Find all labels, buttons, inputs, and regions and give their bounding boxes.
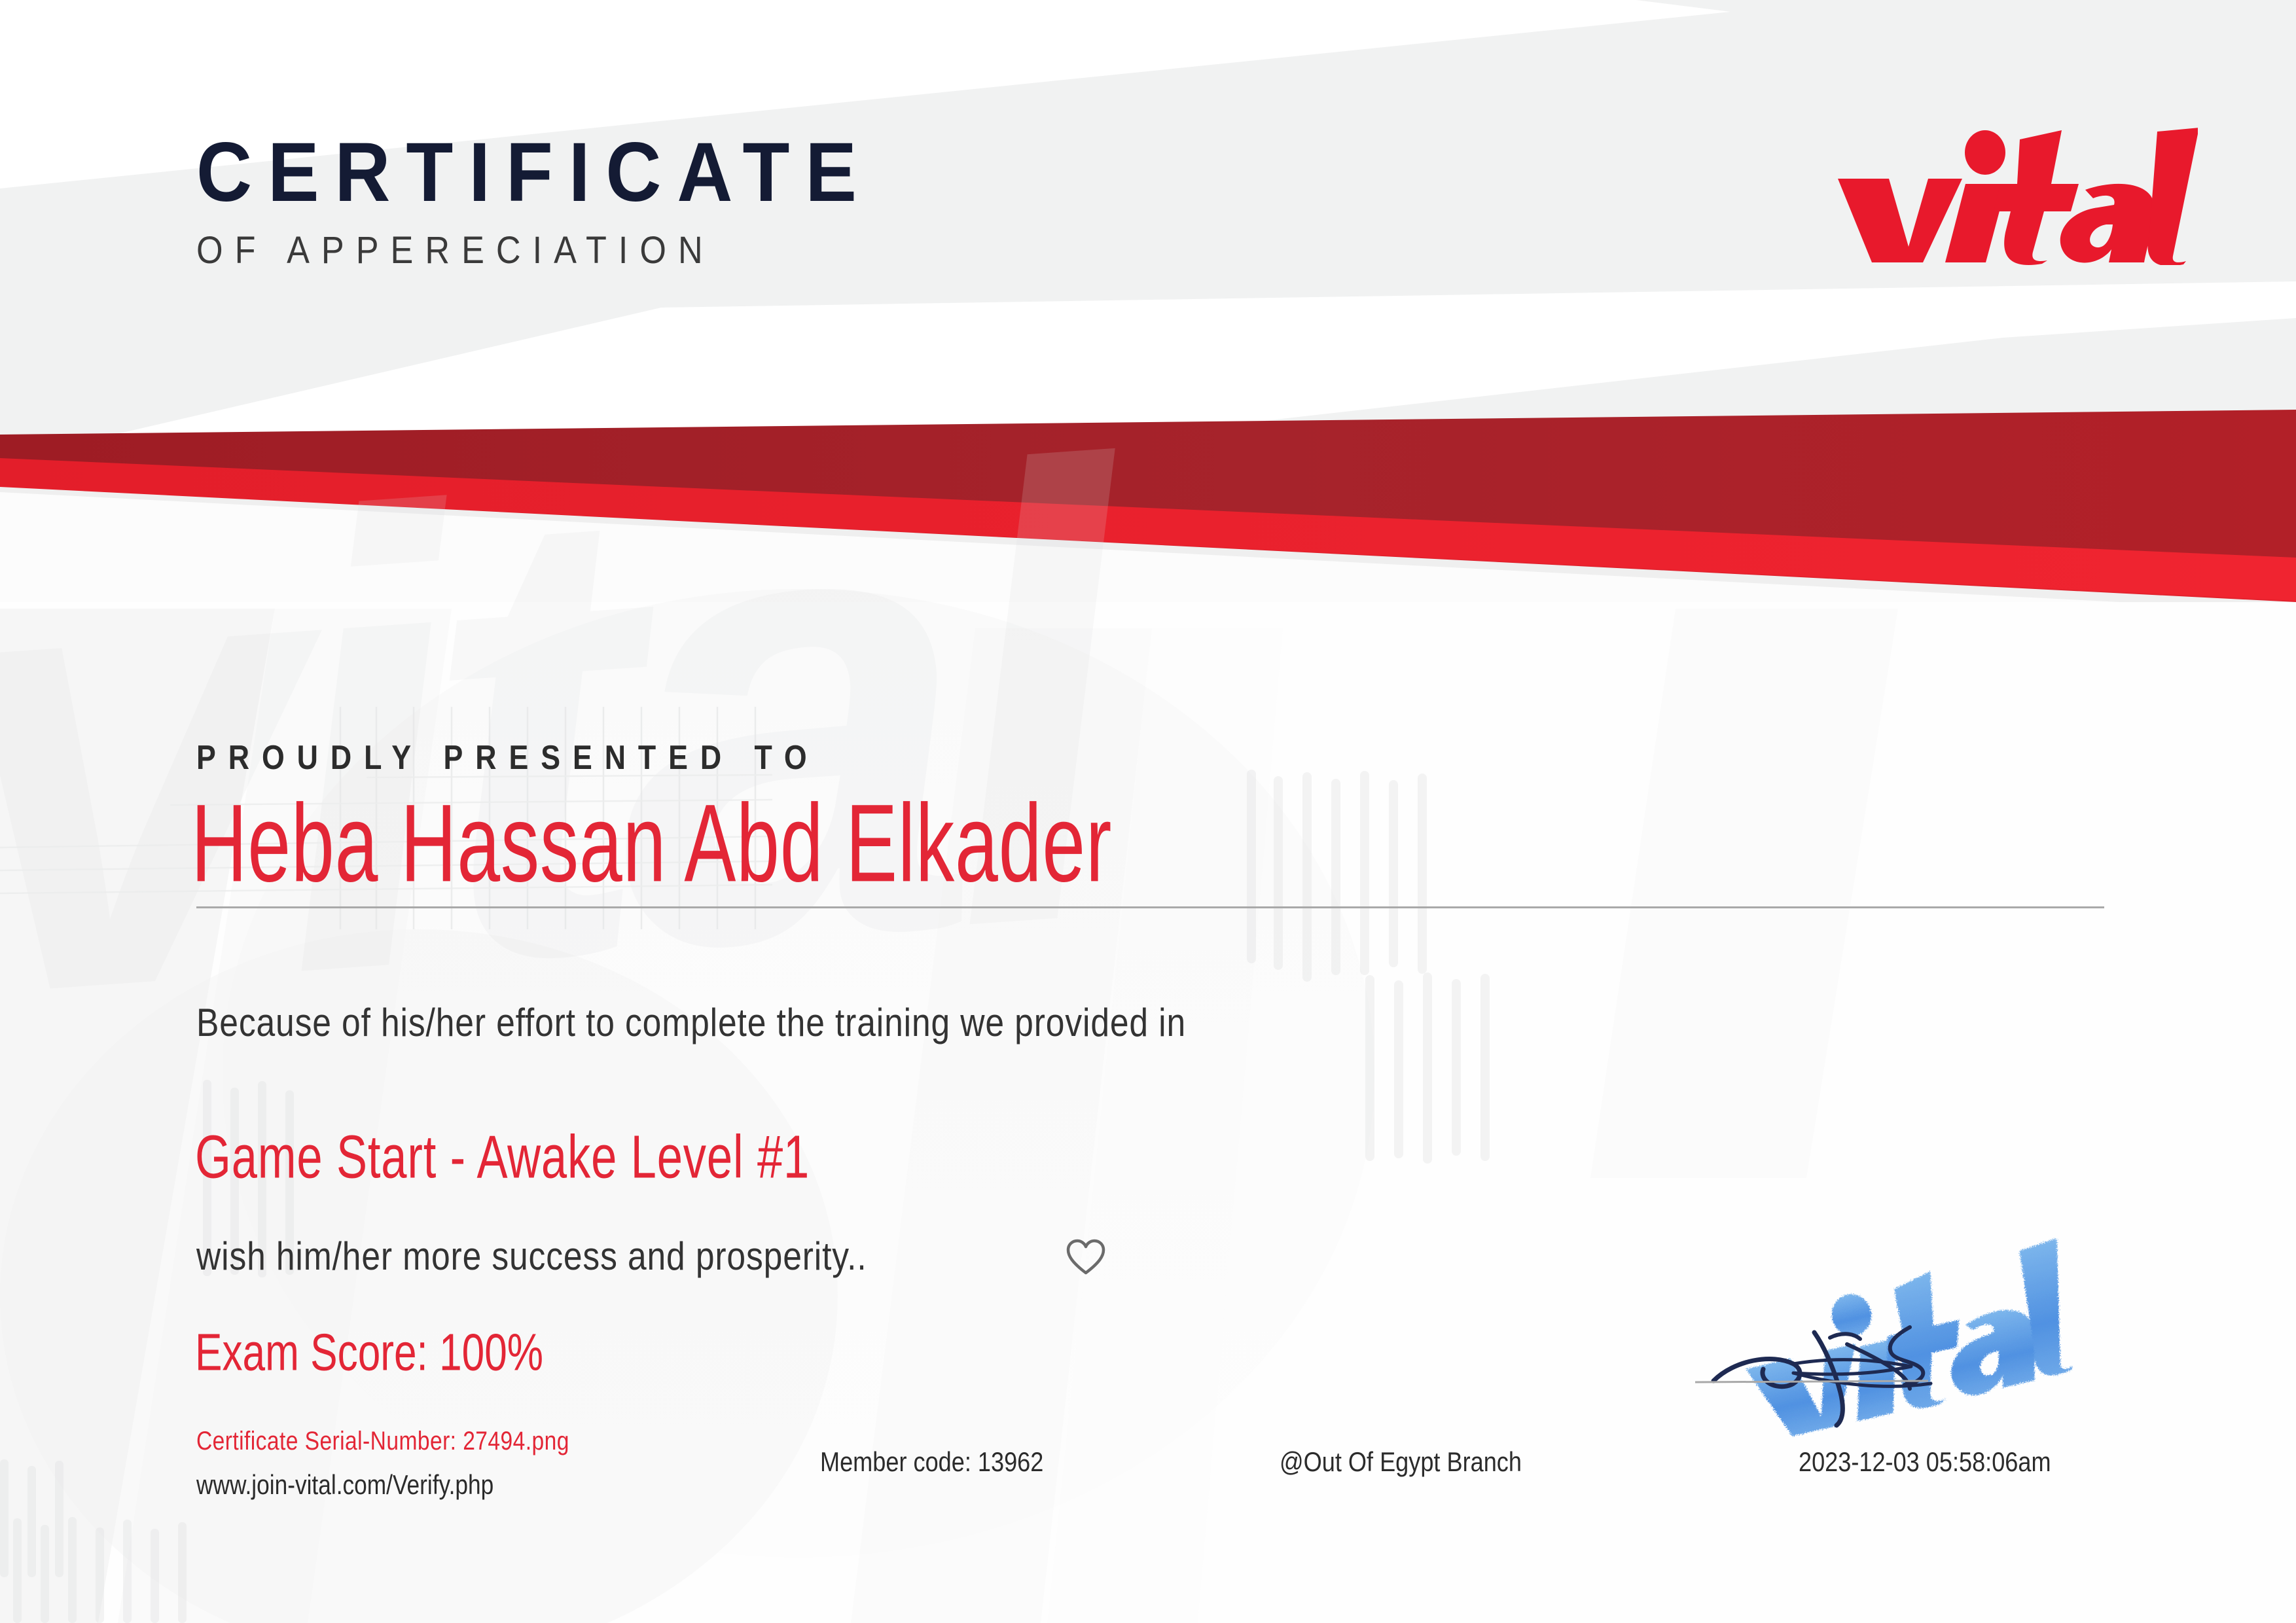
wish-line: wish him/her more success and prosperity… — [196, 1234, 867, 1279]
stamp-vital-text — [1733, 1238, 2088, 1446]
vital-logo-icon — [1831, 128, 2198, 265]
heart-icon — [1066, 1239, 1106, 1280]
recipient-name: Heba Hassan Abd Elkader — [191, 789, 1112, 899]
verify-url[interactable]: www.join-vital.com/Verify.php — [196, 1469, 493, 1501]
issue-date: 2023-12-03 05:58:06am — [1799, 1446, 2051, 1478]
certificate-header: CERTIFICATE OF APPERECIATION — [196, 131, 931, 270]
exam-score: Exam Score: 100% — [195, 1322, 543, 1382]
presented-to-label: PROUDLY PRESENTED TO — [196, 738, 819, 777]
vital-logo — [1831, 128, 2198, 265]
course-title: Game Start - Awake Level #1 — [195, 1122, 810, 1192]
certificate-serial-number: Certificate Serial-Number: 27494.png — [196, 1427, 569, 1456]
page-title: CERTIFICATE — [196, 131, 872, 215]
reason-line: Because of his/her effort to complete th… — [196, 1000, 1186, 1045]
name-underline-rule — [196, 906, 2104, 908]
page-subtitle: OF APPERECIATION — [196, 232, 857, 270]
approval-stamp — [1695, 1204, 2114, 1466]
certificate-page: vital — [0, 0, 2296, 1623]
signature-rule — [1695, 1381, 1928, 1382]
member-code: Member code: 13962 — [820, 1446, 1043, 1478]
branch-name: @Out Of Egypt Branch — [1280, 1446, 1522, 1478]
